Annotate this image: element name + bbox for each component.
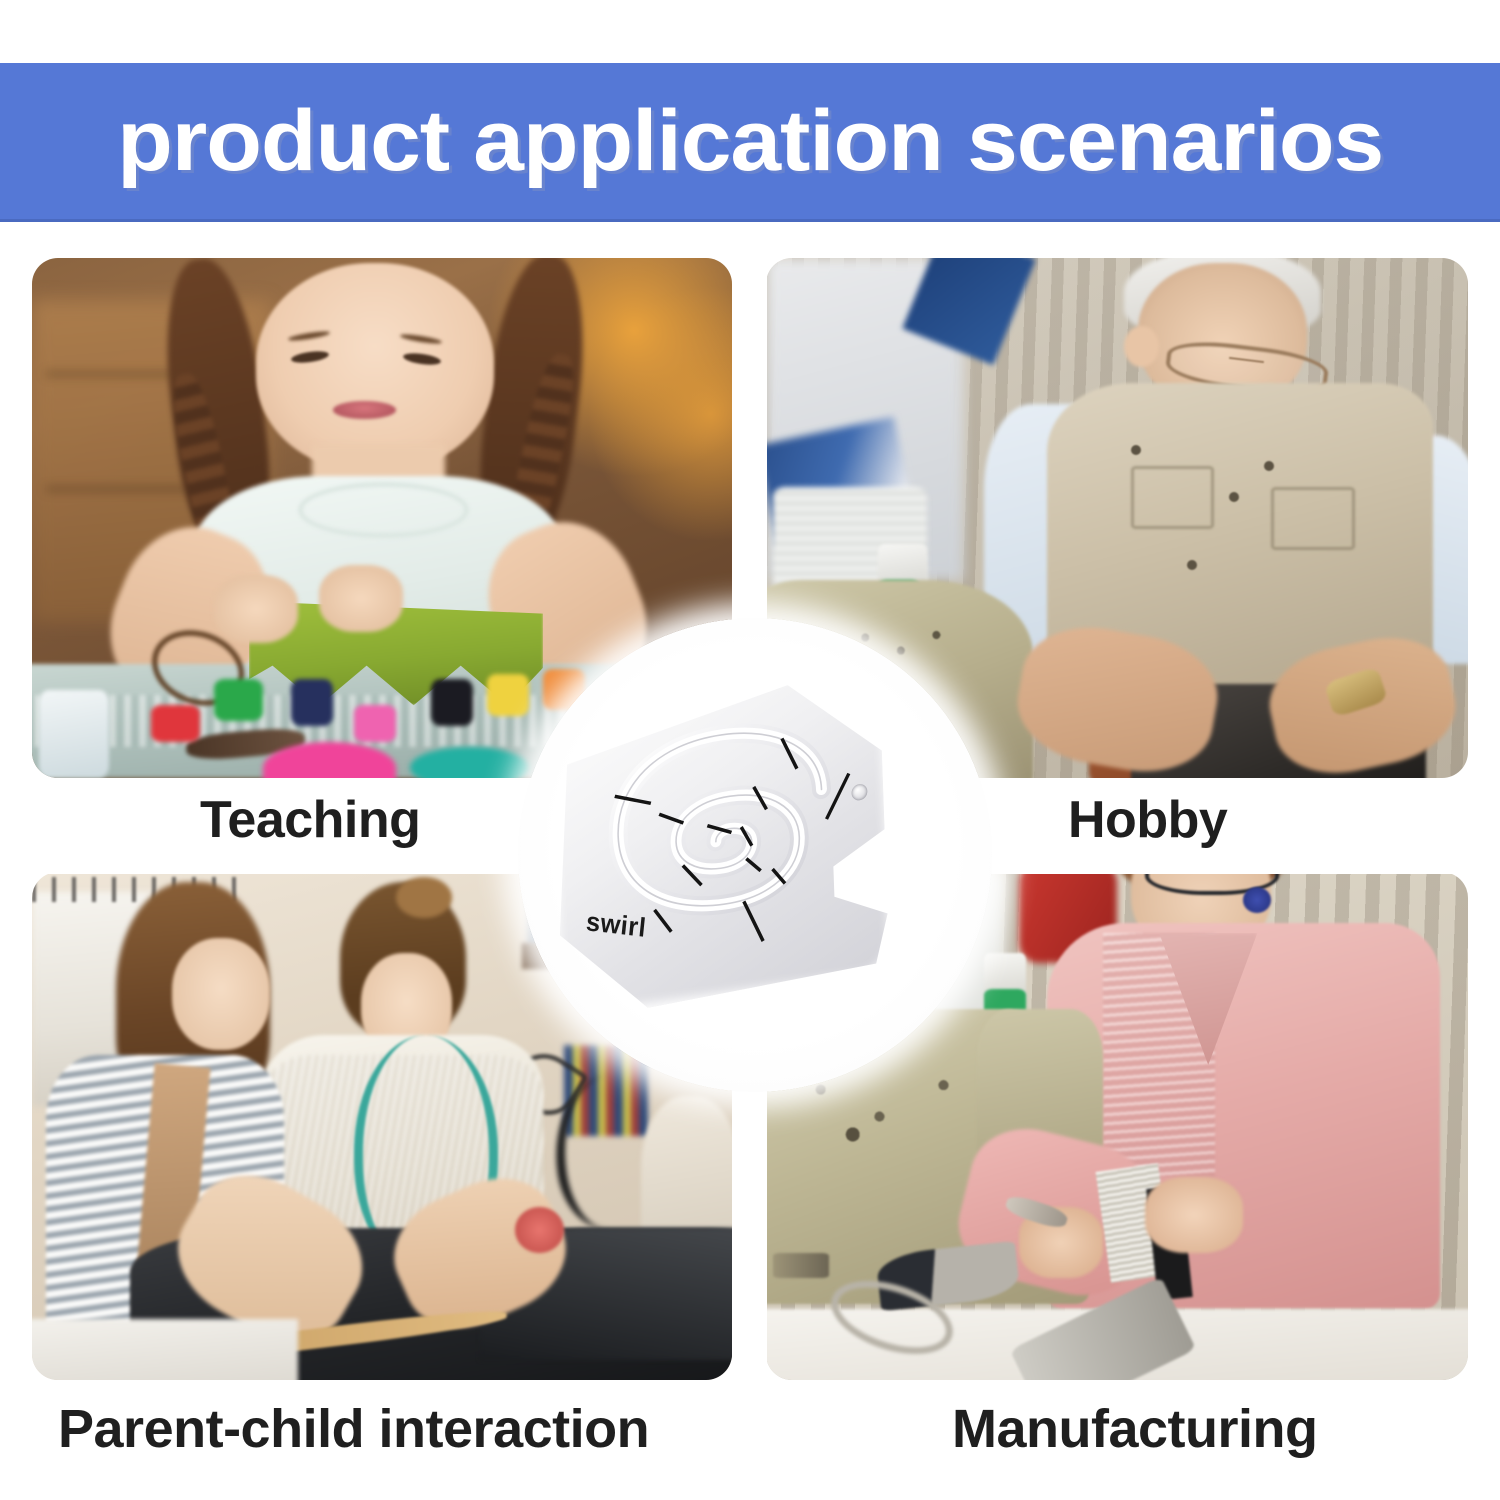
title-banner: product application scenarios [0,63,1500,222]
swirl-template-ruler: swirl [552,672,889,1019]
spiral-groove-graphic [552,672,889,1019]
thread-spool-red [151,705,200,741]
vest-pocket [1131,466,1214,529]
product-label: swirl [585,906,648,944]
girl-face [256,263,494,471]
thread-spool-green [214,679,263,721]
tank-top-collar [298,482,469,539]
product-plate-wrapper: swirl [518,618,992,1092]
glue-bottle [39,690,109,778]
vest-pocket [1271,487,1354,550]
girl-mouth [333,401,396,419]
caption-parent-child: Parent-child interaction [58,1398,649,1460]
girl-hand-left [214,575,298,643]
machine-nameplate [773,1253,829,1278]
caption-manufacturing: Manufacturing [952,1398,1318,1460]
girl-hand-right [319,565,403,633]
vest-button [1187,560,1197,570]
woman-hand-right [1145,1177,1243,1253]
page-title: product application scenarios [117,92,1383,191]
product-highlight-circle: swirl [518,618,992,1092]
caption-hobby: Hobby [1068,790,1227,850]
caption-teaching: Teaching [200,790,420,850]
blue-earring [1243,887,1271,912]
thread-spool-navy [291,679,333,726]
woman-right-hair-bun [396,877,452,918]
thread-spool-black [431,679,473,726]
woman-left-face [172,938,270,1050]
man-ear [1124,326,1159,368]
pincushion [515,1207,564,1253]
cutting-table [32,1319,298,1380]
thread-spool-pink [354,705,396,741]
